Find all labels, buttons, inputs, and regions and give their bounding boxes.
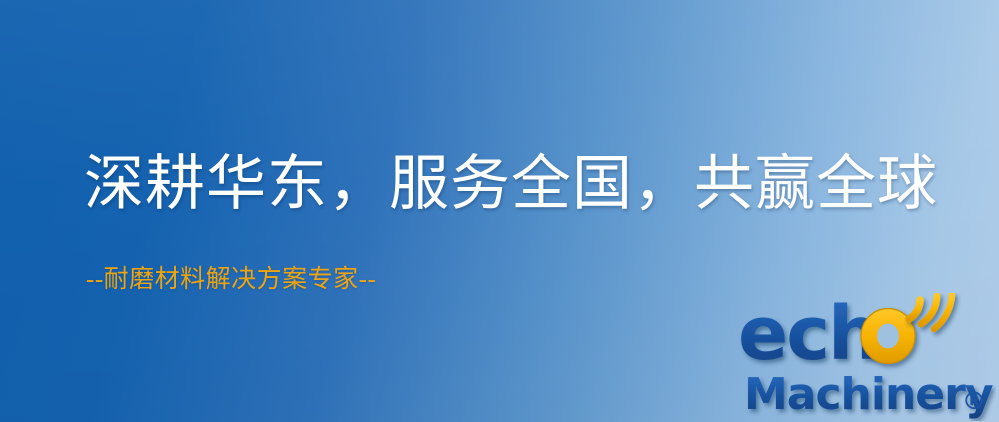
registered-trademark-icon: ® bbox=[962, 387, 986, 415]
logo-ech-text: ech bbox=[738, 293, 879, 377]
company-logo[interactable]: ech Machinery ® bbox=[738, 293, 996, 421]
logo-wordmark-machinery: Machinery ® bbox=[744, 369, 993, 420]
banner-subtitle: --耐磨材料解决方案专家-- bbox=[86, 266, 376, 294]
banner-headline: 深耕华东，服务全国，共赢全球 bbox=[84, 152, 938, 217]
logo-machinery-text: Machinery bbox=[744, 369, 993, 420]
echo-wave-arcs-icon bbox=[909, 295, 952, 329]
hero-banner: 深耕华东，服务全国，共赢全球 --耐磨材料解决方案专家-- bbox=[0, 0, 999, 422]
logo-wordmark-ech: ech bbox=[738, 293, 879, 377]
